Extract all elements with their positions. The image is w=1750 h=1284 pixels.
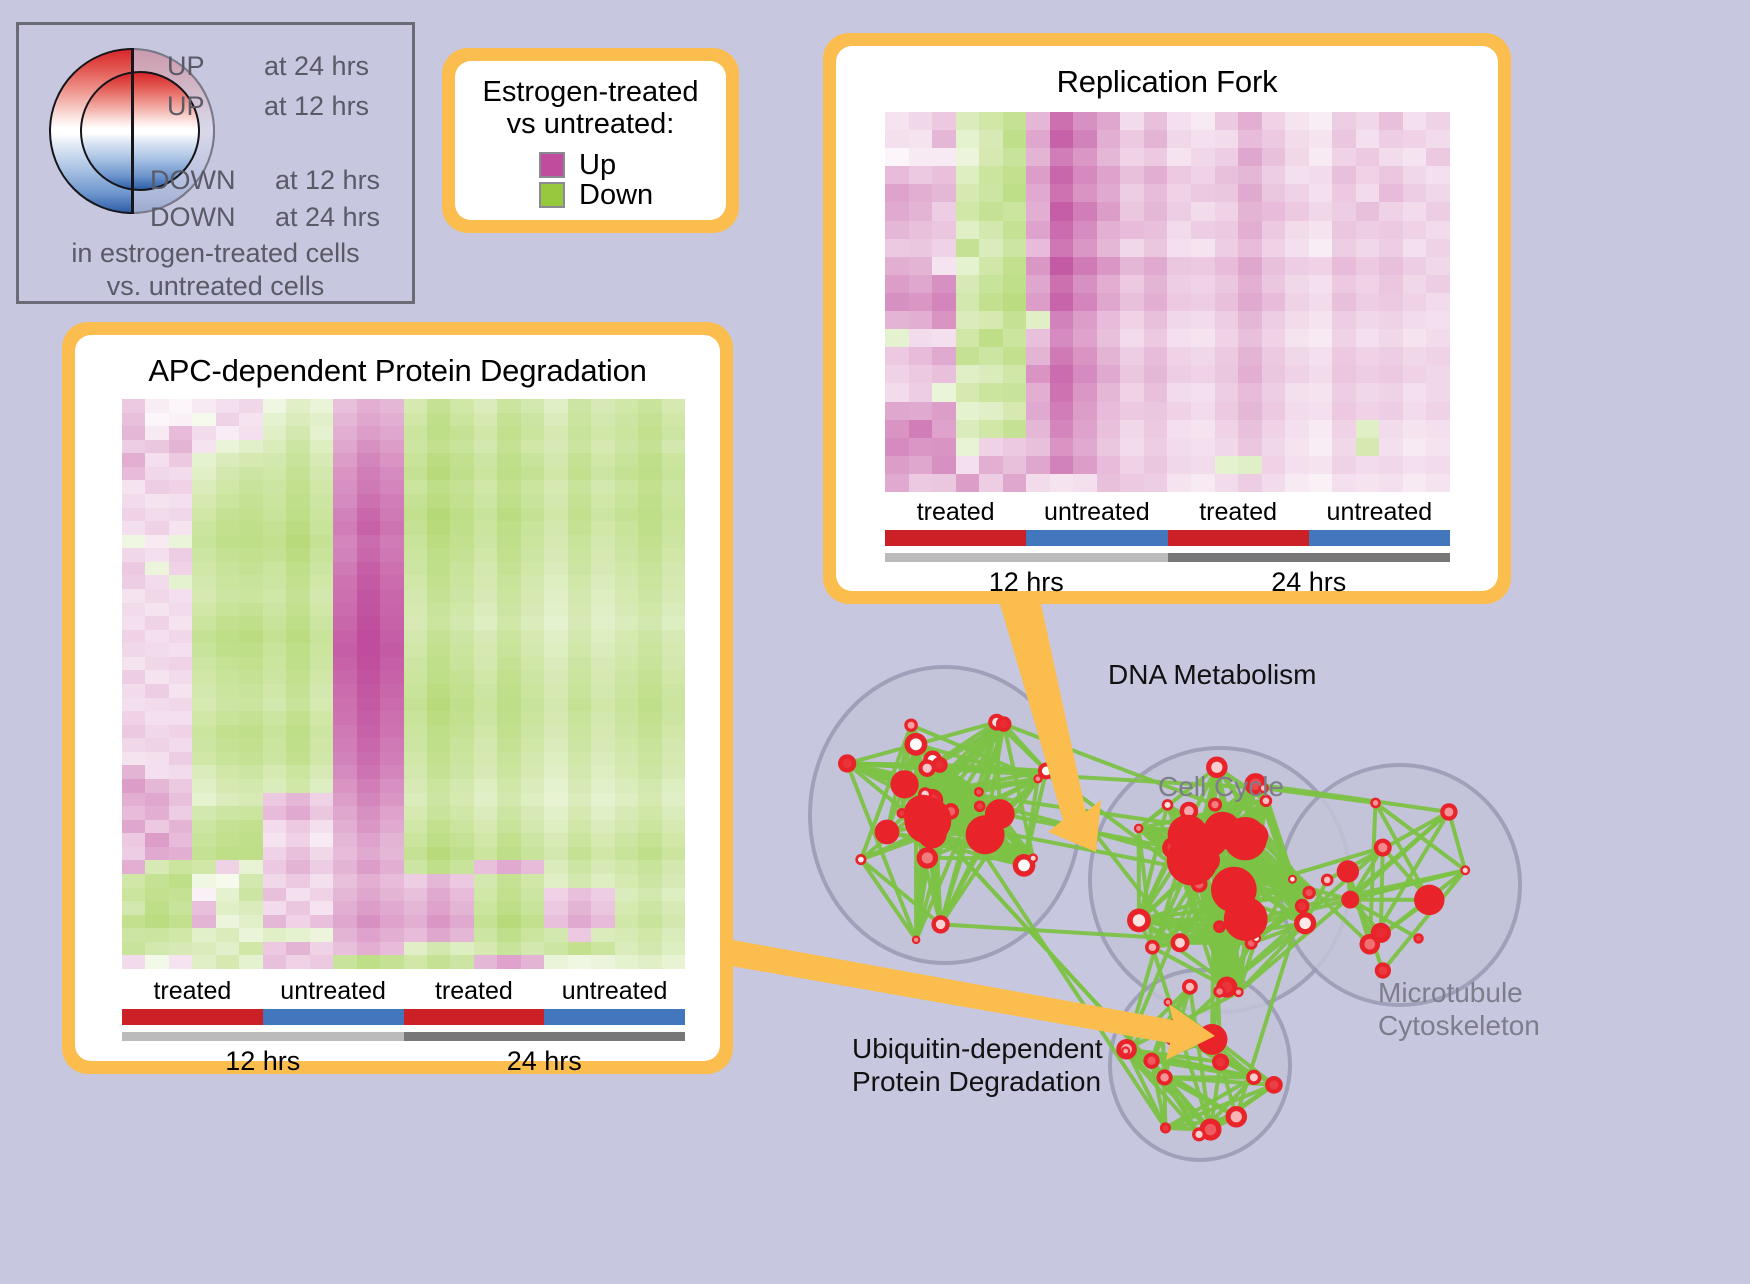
heatmap-cell	[286, 806, 309, 820]
network-node-core	[1299, 918, 1311, 930]
heatmap-cell	[169, 657, 192, 671]
heatmap-cell	[1262, 474, 1286, 492]
heatmap-cell	[1309, 148, 1333, 166]
heatmap-cell	[1262, 239, 1286, 257]
heatmap-cell	[1285, 402, 1309, 420]
heatmap-cell	[497, 942, 520, 956]
heatmap-cell	[216, 765, 239, 779]
heatmap-cell	[1215, 383, 1239, 401]
heatmap-cell	[1144, 130, 1168, 148]
heatmap-cell	[662, 426, 685, 440]
heatmap-cell	[333, 453, 356, 467]
heatmap-cell	[1403, 420, 1427, 438]
heatmap-cell	[1215, 257, 1239, 275]
network-node-core	[842, 759, 851, 768]
heatmap-cell	[568, 562, 591, 576]
heatmap-cell	[1332, 202, 1356, 220]
network-node[interactable]	[1224, 817, 1267, 860]
heatmap-cell	[145, 643, 168, 657]
heatmap-cell	[263, 847, 286, 861]
heatmap-cell	[192, 630, 215, 644]
key-heading-line2: vs untreated:	[467, 109, 714, 141]
heatmap-cell	[216, 603, 239, 617]
heatmap-cell	[885, 275, 909, 293]
heatmap-cell	[1167, 402, 1191, 420]
heatmap-cell	[357, 942, 380, 956]
heatmap-cell	[145, 765, 168, 779]
heatmap-cell	[145, 698, 168, 712]
heatmap-cell	[427, 643, 450, 657]
heatmap-cell	[192, 413, 215, 427]
heatmap-cell	[474, 467, 497, 481]
heatmap-cell	[1167, 275, 1191, 293]
heatmap-cell	[145, 725, 168, 739]
heatmap-cell	[1238, 456, 1262, 474]
heatmap-cell	[122, 779, 145, 793]
heatmap-cell	[1215, 130, 1239, 148]
heatmap-cell	[662, 684, 685, 698]
heatmap-cell	[521, 575, 544, 589]
time-color-bar	[885, 553, 1168, 562]
heatmap-cell	[404, 915, 427, 929]
heatmap-cell	[427, 508, 450, 522]
heatmap-cell	[145, 738, 168, 752]
heatmap-cell	[333, 833, 356, 847]
wheel-footer-line2: vs. untreated cells	[19, 270, 412, 303]
heatmap-cell	[122, 467, 145, 481]
heatmap-cell	[615, 888, 638, 902]
heatmap-cell	[1403, 239, 1427, 257]
network-node-core	[1250, 1073, 1258, 1081]
heatmap-cell	[1191, 130, 1215, 148]
heatmap-cell	[521, 725, 544, 739]
heatmap-cell	[145, 833, 168, 847]
heatmap-cell	[497, 955, 520, 969]
heatmap-cell	[591, 711, 614, 725]
heatmap-cell	[1097, 311, 1121, 329]
heatmap-cell	[521, 793, 544, 807]
heatmap-cell	[1285, 166, 1309, 184]
heatmap-cell	[956, 311, 980, 329]
heatmap-cell	[1120, 166, 1144, 184]
heatmap-cell	[497, 793, 520, 807]
heatmap-cell	[1426, 420, 1450, 438]
heatmap-cell	[1403, 456, 1427, 474]
heatmap-cell	[1120, 456, 1144, 474]
heatmap-cell	[474, 874, 497, 888]
heatmap-cell	[333, 860, 356, 874]
heatmap-cell	[192, 399, 215, 413]
key-label-up: Up	[579, 151, 616, 180]
heatmap-cell	[145, 793, 168, 807]
heatmap-cell	[239, 725, 262, 739]
heatmap-cell	[286, 698, 309, 712]
heatmap-cell	[1191, 311, 1215, 329]
heatmap-cell	[310, 874, 333, 888]
heatmap-cell	[1191, 456, 1215, 474]
heatmap-cell	[474, 535, 497, 549]
heatmap-cell	[450, 765, 473, 779]
heatmap-cell	[310, 793, 333, 807]
heatmap-cell	[216, 860, 239, 874]
heatmap-cell	[286, 820, 309, 834]
heatmap-cell	[122, 793, 145, 807]
network-node[interactable]	[890, 770, 918, 798]
heatmap-cell	[1262, 365, 1286, 383]
heatmap-cell	[404, 562, 427, 576]
heatmap-cell	[1097, 329, 1121, 347]
heatmap-cell	[169, 752, 192, 766]
heatmap-cell	[662, 453, 685, 467]
heatmap-cell	[591, 630, 614, 644]
heatmap-cell	[357, 616, 380, 630]
heatmap-cell	[591, 806, 614, 820]
heatmap-cell	[1403, 166, 1427, 184]
heatmap-cell	[591, 657, 614, 671]
heatmap-cell	[1356, 166, 1380, 184]
heatmap-cell	[638, 684, 661, 698]
heatmap-cell	[216, 630, 239, 644]
heatmap-cell	[1191, 257, 1215, 275]
heatmap-cell	[1238, 166, 1262, 184]
heatmap-cell	[638, 575, 661, 589]
heatmap-cell	[885, 257, 909, 275]
heatmap-cell	[239, 670, 262, 684]
heatmap-cell	[568, 901, 591, 915]
heatmap-cell	[544, 752, 567, 766]
heatmap-cell	[427, 589, 450, 603]
heatmap-cell	[145, 603, 168, 617]
heatmap-cell	[638, 643, 661, 657]
heatmap-cell	[497, 440, 520, 454]
heatmap-cell	[1097, 347, 1121, 365]
heatmap-cell	[404, 711, 427, 725]
swatch-down-icon	[539, 182, 565, 208]
heatmap-cell	[615, 413, 638, 427]
network-node[interactable]	[1197, 1024, 1228, 1055]
heatmap-cell	[591, 698, 614, 712]
heatmap-cell	[1215, 329, 1239, 347]
heatmap-cell	[192, 643, 215, 657]
heatmap-cell	[1073, 166, 1097, 184]
heatmap-cell	[615, 589, 638, 603]
heatmap-cell	[169, 548, 192, 562]
heatmap-cell	[1309, 275, 1333, 293]
network-node[interactable]	[1414, 885, 1444, 915]
heatmap-cell	[1262, 275, 1286, 293]
heatmap-cell	[216, 589, 239, 603]
heatmap-cell	[1026, 221, 1050, 239]
heatmap-cell	[1332, 474, 1356, 492]
heatmap-cell	[638, 738, 661, 752]
heatmap-cell	[568, 684, 591, 698]
heatmap-cell	[521, 413, 544, 427]
heatmap-cell	[497, 847, 520, 861]
heatmap-cell	[474, 630, 497, 644]
heatmap-cell	[286, 630, 309, 644]
heatmap-cell	[932, 148, 956, 166]
heatmap-cell	[885, 239, 909, 257]
heatmap-cell	[239, 711, 262, 725]
heatmap-cell	[1097, 383, 1121, 401]
heatmap-cell	[956, 420, 980, 438]
heatmap-cell	[591, 603, 614, 617]
heatmap-cell	[1426, 456, 1450, 474]
heatmap-cell	[544, 793, 567, 807]
heatmap-cell	[544, 616, 567, 630]
heatmap-cell	[662, 806, 685, 820]
heatmap-cell	[1332, 112, 1356, 130]
heatmap-cell	[591, 874, 614, 888]
heatmap-cell	[192, 426, 215, 440]
heatmap-cell	[216, 698, 239, 712]
heatmap-cell	[333, 548, 356, 562]
heatmap-cell	[380, 698, 403, 712]
heatmap-cell	[122, 711, 145, 725]
heatmap-cell	[122, 752, 145, 766]
heatmap-cell	[1426, 275, 1450, 293]
heatmap-cell	[263, 820, 286, 834]
heatmap-cell	[450, 725, 473, 739]
heatmap-cell	[450, 480, 473, 494]
heatmap-cell	[404, 521, 427, 535]
heatmap-cell	[544, 684, 567, 698]
heatmap-cell	[474, 616, 497, 630]
heatmap-cell	[1026, 257, 1050, 275]
heatmap-cell	[450, 562, 473, 576]
heatmap-cell	[239, 453, 262, 467]
heatmap-cell	[1426, 148, 1450, 166]
heatmap-cell	[885, 221, 909, 239]
heatmap-cell	[333, 508, 356, 522]
heatmap-cell	[145, 508, 168, 522]
heatmap-cell	[638, 440, 661, 454]
heatmap-cell	[380, 603, 403, 617]
heatmap-cell	[145, 928, 168, 942]
heatmap-cell	[1285, 420, 1309, 438]
heatmap-cell	[404, 725, 427, 739]
heatmap-cell	[1356, 239, 1380, 257]
swatch-up-icon	[539, 152, 565, 178]
ubiquitin-line2: Protein Degradation	[852, 1065, 1103, 1098]
heatmap-cell	[216, 426, 239, 440]
heatmap-cell	[591, 752, 614, 766]
heatmap-cell	[662, 928, 685, 942]
heatmap-cell	[216, 413, 239, 427]
heatmap-cell	[615, 535, 638, 549]
heatmap-cell	[169, 562, 192, 576]
heatmap-cell	[521, 847, 544, 861]
heatmap-cell	[662, 915, 685, 929]
heatmap-cell	[1144, 239, 1168, 257]
heatmap-cell	[568, 793, 591, 807]
heatmap-cell	[662, 765, 685, 779]
heatmap-cell	[474, 508, 497, 522]
heatmap-cell	[1309, 456, 1333, 474]
heatmap-cell	[1167, 202, 1191, 220]
cluster-label-microtubule-cytoskeleton: Microtubule Cytoskeleton	[1378, 976, 1540, 1042]
heatmap-cell	[404, 453, 427, 467]
heatmap-cell	[615, 670, 638, 684]
heatmap-cell	[192, 521, 215, 535]
heatmap-cell	[333, 575, 356, 589]
heatmap-cell	[169, 793, 192, 807]
heatmap-cell	[521, 928, 544, 942]
heatmap-cell	[239, 684, 262, 698]
heatmap-cell	[333, 440, 356, 454]
heatmap-cell	[1309, 257, 1333, 275]
heatmap-cell	[333, 874, 356, 888]
heatmap-cell	[286, 440, 309, 454]
heatmap-cell	[216, 942, 239, 956]
heatmap-cell	[544, 494, 567, 508]
heatmap-cell	[169, 860, 192, 874]
network-node-core	[1416, 936, 1421, 941]
heatmap-cell	[427, 860, 450, 874]
heatmap-cell	[615, 426, 638, 440]
heatmap-cell	[286, 575, 309, 589]
heatmap-cell	[1403, 365, 1427, 383]
heatmap-cell	[1073, 402, 1097, 420]
heatmap-cell	[909, 383, 933, 401]
heatmap-cell	[286, 765, 309, 779]
heatmap-cell	[450, 426, 473, 440]
heatmap-cell	[591, 426, 614, 440]
heatmap-cell	[1097, 456, 1121, 474]
heatmap-cell	[1426, 112, 1450, 130]
heatmap-cell	[1167, 184, 1191, 202]
heatmap-cell	[1379, 402, 1403, 420]
heatmap-cell	[122, 888, 145, 902]
heatmap-cell	[357, 765, 380, 779]
heatmap-cell	[1191, 239, 1215, 257]
heatmap-cell	[1426, 130, 1450, 148]
heatmap-cell	[979, 438, 1003, 456]
network-node[interactable]	[985, 799, 1015, 829]
heatmap-cell	[568, 820, 591, 834]
heatmap-cell	[216, 684, 239, 698]
heatmap-cell	[239, 535, 262, 549]
heatmap-cell	[239, 616, 262, 630]
heatmap-cell	[638, 603, 661, 617]
heatmap-cell	[333, 589, 356, 603]
network-node-core	[1166, 1000, 1170, 1004]
heatmap-cell	[615, 562, 638, 576]
heatmap-cell	[521, 399, 544, 413]
heatmap-cell	[310, 589, 333, 603]
heatmap-cell	[450, 670, 473, 684]
heatmap-cell	[404, 806, 427, 820]
heatmap-cell	[286, 725, 309, 739]
heatmap-cell	[216, 793, 239, 807]
network-node-core	[1123, 1049, 1128, 1054]
heatmap-cell	[956, 474, 980, 492]
heatmap-cell	[404, 508, 427, 522]
heatmap-cell	[333, 711, 356, 725]
heatmap-cell	[615, 603, 638, 617]
heatmap-cell	[474, 440, 497, 454]
heatmap-cell	[1144, 275, 1168, 293]
heatmap-cell	[333, 942, 356, 956]
heatmap-cell	[310, 630, 333, 644]
heatmap-cell	[497, 657, 520, 671]
heatmap-cell	[404, 535, 427, 549]
heatmap-cell	[310, 575, 333, 589]
heatmap-cell	[169, 440, 192, 454]
heatmap-cell	[568, 413, 591, 427]
heatmap-cell	[357, 684, 380, 698]
heatmap-cell	[1379, 148, 1403, 166]
heatmap-cell	[450, 806, 473, 820]
heatmap-cell	[333, 955, 356, 969]
heatmap-cell	[956, 239, 980, 257]
heatmap-cell	[357, 657, 380, 671]
heatmap-cell	[1262, 202, 1286, 220]
heatmap-cell	[239, 860, 262, 874]
heatmap-cell	[1309, 365, 1333, 383]
heatmap-cell	[1309, 130, 1333, 148]
heatmap-cell	[979, 365, 1003, 383]
heatmap-cell	[474, 888, 497, 902]
heatmap-cell	[1144, 402, 1168, 420]
heatmap-cell	[1191, 112, 1215, 130]
heatmap-cell	[404, 833, 427, 847]
heatmap-cell	[216, 928, 239, 942]
heatmap-cell	[1262, 257, 1286, 275]
heatmap-cell	[216, 711, 239, 725]
heatmap-cell	[544, 453, 567, 467]
heatmap-cell	[404, 901, 427, 915]
network-node-core	[1175, 938, 1185, 948]
heatmap-cell	[1120, 130, 1144, 148]
heatmap-cell	[239, 548, 262, 562]
network-node[interactable]	[1162, 1019, 1190, 1047]
network-node[interactable]	[1341, 891, 1359, 909]
heatmap-cell	[615, 860, 638, 874]
heatmap-cell	[169, 738, 192, 752]
network-node-core	[910, 738, 922, 750]
group-label: untreated	[1309, 498, 1450, 527]
heatmap-cell	[521, 630, 544, 644]
heatmap-cell	[192, 670, 215, 684]
network-node-core	[1018, 860, 1030, 872]
heatmap-cell	[380, 480, 403, 494]
heatmap-cell	[1215, 402, 1239, 420]
group-color-bar	[263, 1009, 404, 1025]
heatmap-cell	[568, 874, 591, 888]
heatmap-cell	[333, 562, 356, 576]
heatmap-cell	[615, 467, 638, 481]
heatmap-cell	[932, 420, 956, 438]
heatmap-cell	[192, 860, 215, 874]
heatmap-cell	[662, 413, 685, 427]
network-node-core	[1031, 856, 1036, 861]
heatmap-cell	[1097, 184, 1121, 202]
network-node[interactable]	[904, 797, 951, 844]
heatmap-cell	[544, 589, 567, 603]
heatmap-cell	[474, 833, 497, 847]
network-node[interactable]	[1211, 867, 1257, 913]
heatmap-cell	[1191, 474, 1215, 492]
network-node[interactable]	[1168, 815, 1208, 855]
heatmap-cell	[380, 779, 403, 793]
network-node[interactable]	[875, 820, 900, 845]
heatmap-cell	[239, 399, 262, 413]
heatmap-cell	[662, 657, 685, 671]
heatmap-cell	[192, 711, 215, 725]
heatmap-cell	[544, 860, 567, 874]
heatmap-cell	[1403, 202, 1427, 220]
